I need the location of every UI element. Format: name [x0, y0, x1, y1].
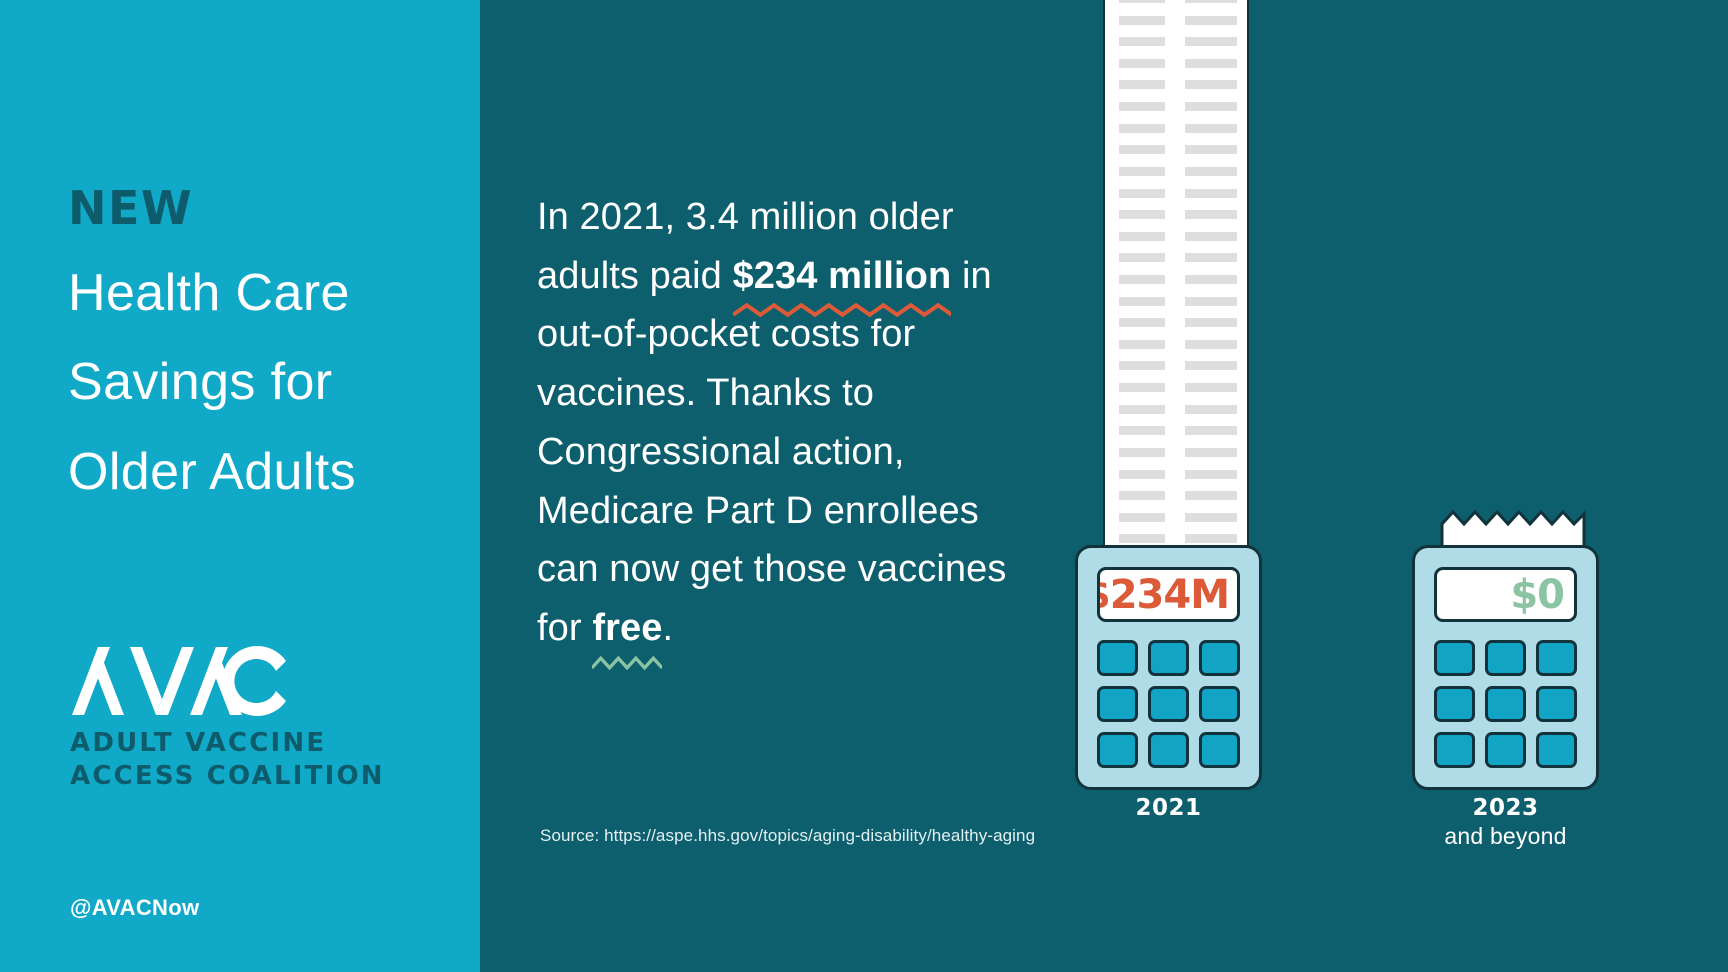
- calculator-key[interactable]: [1148, 732, 1189, 768]
- receipt-line: [1119, 297, 1165, 306]
- calculator-key[interactable]: [1097, 732, 1138, 768]
- calculator-key[interactable]: [1097, 640, 1138, 676]
- receipt-line: [1185, 253, 1237, 262]
- receipt-text-lines: [1105, 0, 1247, 552]
- calculator-key[interactable]: [1199, 686, 1240, 722]
- calculator-display-2023: $0: [1434, 567, 1577, 622]
- headline-line-1: Health Care: [68, 249, 468, 338]
- kicker-label: NEW: [68, 185, 468, 231]
- receipt-line: [1185, 189, 1237, 198]
- receipt-line: [1185, 361, 1237, 370]
- brand-heading: NEW Health Care Savings for Older Adults: [68, 185, 468, 517]
- calculator-key[interactable]: [1536, 640, 1577, 676]
- calculator-key[interactable]: [1199, 732, 1240, 768]
- receipt-line: [1185, 470, 1237, 479]
- receipt-line: [1185, 534, 1237, 543]
- receipt-line: [1119, 405, 1165, 414]
- receipt-line: [1185, 167, 1237, 176]
- highlight-amount-text: $234 million: [733, 255, 952, 297]
- calculator-key[interactable]: [1485, 732, 1526, 768]
- calculator-key[interactable]: [1536, 686, 1577, 722]
- receipt-line: [1119, 167, 1165, 176]
- zigzag-underline-green-icon: [592, 655, 662, 671]
- receipt-line: [1119, 318, 1165, 327]
- calculator-key[interactable]: [1148, 686, 1189, 722]
- receipt-tape-2021: [1103, 0, 1249, 552]
- receipt-line: [1119, 16, 1165, 25]
- calculator-label-2021: 2021: [1075, 795, 1262, 821]
- receipt-line: [1185, 145, 1237, 154]
- body-text-part-3: .: [662, 607, 673, 649]
- logo-subtitle-line-2: ACCESS COALITION: [70, 760, 430, 793]
- receipt-line: [1185, 405, 1237, 414]
- calculator-key[interactable]: [1485, 640, 1526, 676]
- calculator-key[interactable]: [1148, 640, 1189, 676]
- calculator-keypad-2023[interactable]: [1434, 640, 1577, 768]
- calculator-display-2021: $234M: [1097, 567, 1240, 622]
- receipt-line: [1119, 448, 1165, 457]
- receipt-line: [1185, 297, 1237, 306]
- receipt-line: [1185, 383, 1237, 392]
- receipt-line: [1185, 340, 1237, 349]
- receipt-line: [1119, 383, 1165, 392]
- left-brand-panel: NEW Health Care Savings for Older Adults…: [0, 0, 480, 972]
- receipt-line: [1185, 59, 1237, 68]
- receipt-line: [1119, 232, 1165, 241]
- calculator-2023[interactable]: $0: [1412, 545, 1599, 790]
- receipt-line: [1185, 448, 1237, 457]
- receipt-line: [1185, 210, 1237, 219]
- receipt-line: [1185, 102, 1237, 111]
- calculator-keypad-2021[interactable]: [1097, 640, 1240, 768]
- receipt-line: [1119, 145, 1165, 154]
- receipt-line: [1119, 124, 1165, 133]
- calculator-key[interactable]: [1097, 686, 1138, 722]
- logo-subtitle-line-1: ADULT VACCINE: [70, 727, 430, 760]
- calculator-key[interactable]: [1199, 640, 1240, 676]
- receipt-line: [1119, 80, 1165, 89]
- receipt-line: [1119, 189, 1165, 198]
- receipt-line: [1119, 491, 1165, 500]
- receipt-line: [1185, 275, 1237, 284]
- calculator-key[interactable]: [1434, 640, 1475, 676]
- headline-line-2: Savings for: [68, 338, 468, 427]
- receipt-line: [1185, 80, 1237, 89]
- highlight-amount: $234 million: [733, 247, 952, 306]
- display-value-2021: $234M: [1097, 572, 1237, 618]
- receipt-line: [1119, 513, 1165, 522]
- receipt-line: [1185, 0, 1237, 3]
- calculator-key[interactable]: [1536, 732, 1577, 768]
- calculator-key[interactable]: [1434, 686, 1475, 722]
- calculator-year-2021: 2021: [1075, 795, 1262, 821]
- receipt-line: [1185, 16, 1237, 25]
- calculator-illustration-group: $234M 2021 $0 2023 and beyond: [1040, 0, 1728, 972]
- receipt-line: [1119, 102, 1165, 111]
- receipt-line: [1185, 426, 1237, 435]
- zigzag-underline-orange-icon: [733, 302, 952, 318]
- social-handle[interactable]: @AVACNow: [70, 895, 199, 921]
- main-body-copy: In 2021, 3.4 million older adults paid $…: [537, 188, 1037, 658]
- receipt-line: [1119, 470, 1165, 479]
- highlight-free: free: [592, 599, 662, 658]
- highlight-free-text: free: [592, 607, 662, 649]
- calculator-key[interactable]: [1485, 686, 1526, 722]
- receipt-line: [1119, 361, 1165, 370]
- receipt-line: [1185, 318, 1237, 327]
- receipt-line: [1119, 426, 1165, 435]
- receipt-line: [1119, 253, 1165, 262]
- receipt-line: [1119, 210, 1165, 219]
- headline-group: Health Care Savings for Older Adults: [68, 249, 468, 517]
- avac-logo: ADULT VACCINE ACCESS COALITION: [70, 645, 430, 794]
- headline-line-3: Older Adults: [68, 428, 468, 517]
- receipt-line: [1119, 37, 1165, 46]
- receipt-line: [1185, 513, 1237, 522]
- receipt-line: [1119, 59, 1165, 68]
- avac-wordmark-icon: [70, 645, 288, 717]
- receipt-line: [1185, 491, 1237, 500]
- receipt-line: [1119, 0, 1165, 3]
- logo-subtitle: ADULT VACCINE ACCESS COALITION: [70, 727, 430, 794]
- receipt-line: [1119, 340, 1165, 349]
- calculator-2021[interactable]: $234M: [1075, 545, 1262, 790]
- calculator-key[interactable]: [1434, 732, 1475, 768]
- calculator-sublabel-2023: and beyond: [1412, 823, 1599, 850]
- receipt-line: [1119, 534, 1165, 543]
- receipt-line: [1185, 232, 1237, 241]
- receipt-line: [1185, 37, 1237, 46]
- source-citation: Source: https://aspe.hhs.gov/topics/agin…: [540, 826, 1035, 846]
- calculator-year-2023: 2023: [1412, 795, 1599, 821]
- receipt-line: [1119, 275, 1165, 284]
- calculator-label-2023: 2023 and beyond: [1412, 795, 1599, 850]
- display-value-2023: $0: [1510, 572, 1574, 618]
- receipt-line: [1185, 124, 1237, 133]
